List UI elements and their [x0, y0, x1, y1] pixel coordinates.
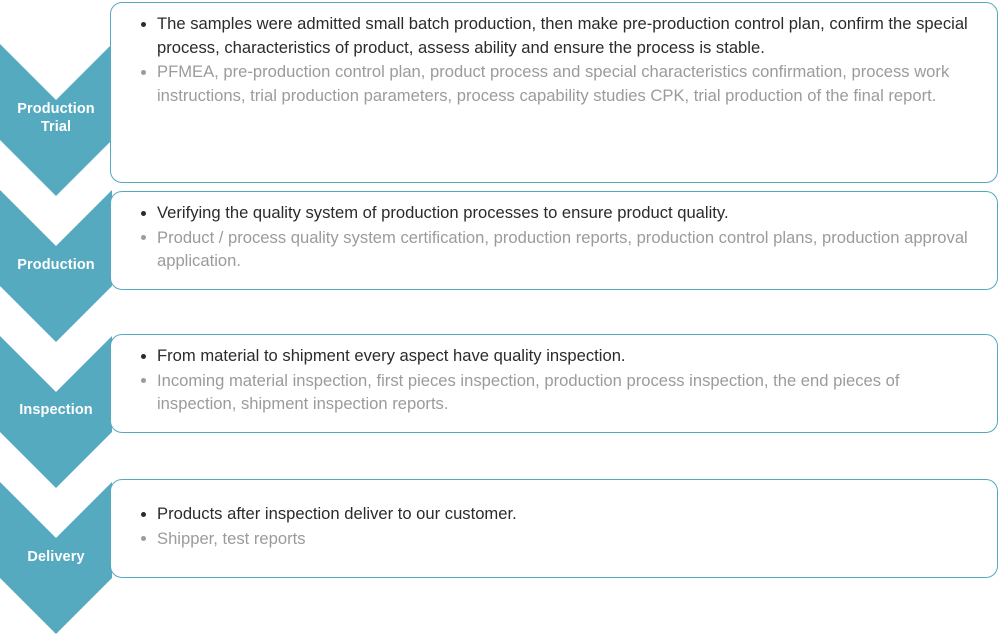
bullet-item-secondary: Product / process quality system certifi… — [125, 226, 981, 273]
process-flow-diagram: Production Trial Production Inspection D… — [0, 0, 1000, 637]
stage-box-inspection[interactable]: From material to shipment every aspect h… — [110, 334, 998, 433]
bullet-item-primary: Products after inspection deliver to our… — [125, 502, 981, 526]
bullet-item-primary: The samples were admitted small batch pr… — [125, 12, 981, 59]
bullet-list: The samples were admitted small batch pr… — [125, 12, 981, 107]
bullet-list: Verifying the quality system of producti… — [125, 201, 981, 273]
bullet-list: Products after inspection deliver to our… — [125, 502, 981, 550]
stage-box-production-trial[interactable]: The samples were admitted small batch pr… — [110, 2, 998, 183]
bullet-list: From material to shipment every aspect h… — [125, 344, 981, 416]
bullet-item-secondary: Incoming material inspection, first piec… — [125, 369, 981, 416]
bullet-item-primary: From material to shipment every aspect h… — [125, 344, 981, 368]
stage-box-production[interactable]: Verifying the quality system of producti… — [110, 191, 998, 290]
bullet-item-secondary: PFMEA, pre-production control plan, prod… — [125, 60, 981, 107]
stage-box-delivery[interactable]: Products after inspection deliver to our… — [110, 479, 998, 578]
chevron-arrows-graphic — [0, 0, 112, 637]
chevron-shape-production[interactable] — [0, 190, 112, 342]
chevron-shape-inspection[interactable] — [0, 336, 112, 488]
chevron-shape-delivery[interactable] — [0, 482, 112, 634]
chevron-shape-production-trial[interactable] — [0, 44, 112, 196]
bullet-item-secondary: Shipper, test reports — [125, 527, 981, 551]
bullet-item-primary: Verifying the quality system of producti… — [125, 201, 981, 225]
chevron-arrow-column: Production Trial Production Inspection D… — [0, 0, 112, 637]
